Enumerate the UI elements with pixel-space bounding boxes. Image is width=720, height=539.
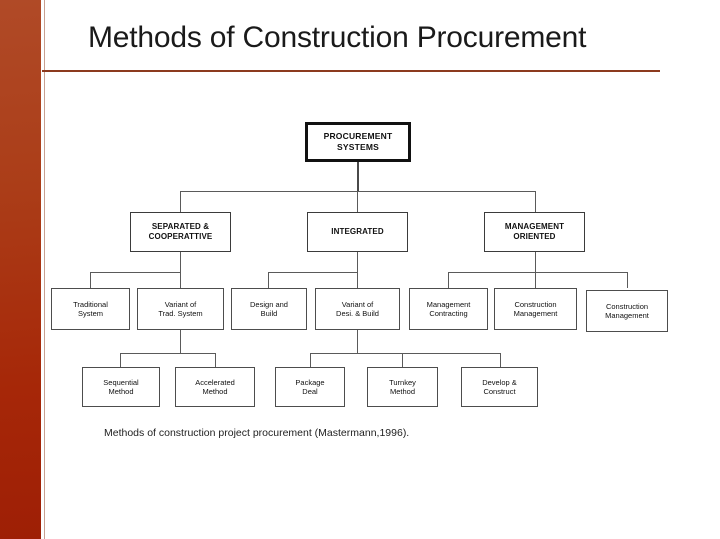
node-label-line1: Package xyxy=(293,378,326,387)
node-label-line1: Develop & xyxy=(480,378,519,387)
connector-level2-drop-management xyxy=(535,191,536,213)
node-integrated[interactable]: INTEGRATED xyxy=(307,212,408,252)
node-label-line1: Turnkey xyxy=(387,378,418,387)
node-separated-cooperative[interactable]: SEPARATED & COOPERATTIVE xyxy=(130,212,231,252)
connector-drop-variant-trad-system xyxy=(180,272,181,288)
node-management-oriented[interactable]: MANAGEMENT ORIENTED xyxy=(484,212,585,252)
node-procurement-systems[interactable]: PROCUREMENT SYSTEMS xyxy=(305,122,411,162)
node-label-line1: Design and xyxy=(248,300,290,309)
node-label-line1: Traditional xyxy=(71,300,110,309)
node-label-line2: SYSTEMS xyxy=(322,142,395,153)
node-label-line1: Sequential xyxy=(101,378,140,387)
node-label-line2: Trad. System xyxy=(156,309,204,318)
node-construction-management-2[interactable]: Construction Management xyxy=(586,290,668,332)
node-label-line1: Construction xyxy=(603,302,651,311)
node-label-line2: Contracting xyxy=(425,309,473,318)
connector-drop-package-deal xyxy=(310,353,311,368)
connector-level2-drop-integrated xyxy=(357,191,358,213)
node-label-line1: Variant of xyxy=(156,300,204,309)
node-management-contracting[interactable]: Management Contracting xyxy=(409,288,488,330)
node-label-line1: INTEGRATED xyxy=(329,227,385,237)
node-variant-desi-build[interactable]: Variant of Desi. & Build xyxy=(315,288,400,330)
node-label-line1: PROCUREMENT xyxy=(322,131,395,142)
connector-variant-trad-stem xyxy=(180,330,181,354)
node-label-line1: Construction xyxy=(512,300,560,309)
connector-drop-develop-construct xyxy=(500,353,501,368)
connector-drop-traditional-system xyxy=(90,272,91,288)
connector-management-stem xyxy=(535,252,536,273)
node-label-line2: Desi. & Build xyxy=(334,309,381,318)
connector-variant-desi-stem xyxy=(357,330,358,354)
connector-drop-turnkey-method xyxy=(402,353,403,368)
node-label-line2: Build xyxy=(248,309,290,318)
node-package-deal[interactable]: Package Deal xyxy=(275,367,345,407)
connector-drop-variant-desi-build xyxy=(357,272,358,288)
node-label-line1: MANAGEMENT xyxy=(503,222,566,232)
node-label-line1: Variant of xyxy=(334,300,381,309)
connector-level2-drop-separated xyxy=(180,191,181,213)
node-label-line2: Method xyxy=(193,387,237,396)
connector-level2-bus xyxy=(180,191,536,192)
slide-canvas: Methods of Construction Procurement PROC… xyxy=(0,0,720,539)
node-label-line2: Deal xyxy=(293,387,326,396)
connector-integrated-bus xyxy=(268,272,358,273)
connector-separated-stem xyxy=(180,252,181,273)
connector-separated-bus xyxy=(90,272,181,273)
connector-drop-sequential-method xyxy=(120,353,121,368)
node-label-line2: Management xyxy=(512,309,560,318)
connector-management-bus xyxy=(448,272,628,273)
node-sequential-method[interactable]: Sequential Method xyxy=(82,367,160,407)
connector-drop-construction-management-1 xyxy=(535,272,536,288)
connector-drop-management-contracting xyxy=(448,272,449,288)
node-label-line2: Method xyxy=(387,387,418,396)
node-label-line2: Method xyxy=(101,387,140,396)
node-variant-trad-system[interactable]: Variant of Trad. System xyxy=(137,288,224,330)
node-label-line2: Construct xyxy=(480,387,519,396)
node-design-and-build[interactable]: Design and Build xyxy=(231,288,307,330)
node-label-line1: SEPARATED & xyxy=(147,222,215,232)
node-develop-construct[interactable]: Develop & Construct xyxy=(461,367,538,407)
figure-caption: Methods of construction project procurem… xyxy=(104,427,624,439)
node-accelerated-method[interactable]: Accelerated Method xyxy=(175,367,255,407)
node-label-line2: Management xyxy=(603,311,651,320)
node-label-line1: Accelerated xyxy=(193,378,237,387)
connector-drop-design-and-build xyxy=(268,272,269,288)
connector-variant-trad-bus xyxy=(120,353,216,354)
connector-drop-accelerated-method xyxy=(215,353,216,368)
node-turnkey-method[interactable]: Turnkey Method xyxy=(367,367,438,407)
node-label-line1: Management xyxy=(425,300,473,309)
node-label-line2: ORIENTED xyxy=(503,232,566,242)
connector-variant-desi-bus xyxy=(310,353,501,354)
org-chart-diagram: PROCUREMENT SYSTEMS SEPARATED & COOPERAT… xyxy=(0,0,720,539)
node-traditional-system[interactable]: Traditional System xyxy=(51,288,130,330)
connector-root-stem xyxy=(357,162,359,192)
node-label-line2: COOPERATTIVE xyxy=(147,232,215,242)
node-construction-management-1[interactable]: Construction Management xyxy=(494,288,577,330)
connector-drop-construction-management-2 xyxy=(627,272,628,288)
node-label-line2: System xyxy=(71,309,110,318)
connector-integrated-stem xyxy=(357,252,358,273)
